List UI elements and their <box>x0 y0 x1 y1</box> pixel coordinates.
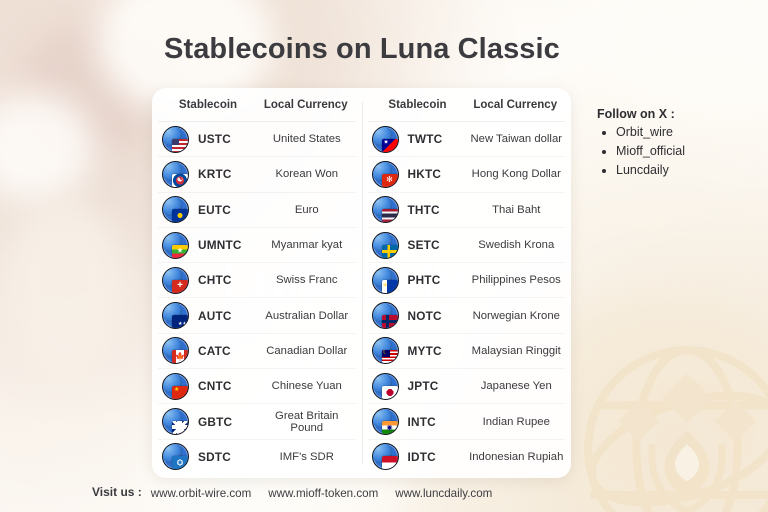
stablecoin-ticker: EUTC <box>198 203 231 217</box>
table-row[interactable]: ☀PHTCPhilippines Pesos <box>368 262 566 297</box>
table-row[interactable]: ◉INTCIndian Rupee <box>368 403 566 438</box>
footer-link[interactable]: www.orbit-wire.com <box>151 487 252 500</box>
cn-coin-icon: ★ <box>162 373 189 400</box>
footer-link[interactable]: www.mioff-token.com <box>268 487 378 500</box>
flag-icon: 🍁 <box>172 350 188 363</box>
stablecoin-ticker: AUTC <box>198 309 232 323</box>
cell-local-currency: New Taiwan dollar <box>468 133 566 145</box>
cell-stablecoin: THTC <box>368 196 468 223</box>
table-row[interactable]: ✻HKTCHong Kong Dollar <box>368 156 566 191</box>
cell-stablecoin: IDTC <box>368 443 468 470</box>
stablecoin-ticker: TWTC <box>408 132 443 146</box>
flag-icon: ✻ <box>382 174 398 187</box>
table-row[interactable]: IDTCIndonesian Rupiah <box>368 439 566 474</box>
ph-coin-icon: ☀ <box>372 267 399 294</box>
stablecoin-ticker: KRTC <box>198 167 232 181</box>
stablecoin-ticker: SETC <box>408 238 440 252</box>
cell-local-currency: Hong Kong Dollar <box>468 168 566 180</box>
stablecoin-ticker: GBTC <box>198 415 232 429</box>
stablecoin-ticker: HKTC <box>408 167 442 181</box>
globe-ornament-icon <box>572 334 768 512</box>
cell-stablecoin: +CHTC <box>158 267 258 294</box>
se-coin-icon <box>372 232 399 259</box>
cell-local-currency: Myanmar kyat <box>258 239 356 251</box>
table-row[interactable]: ✷TWTCNew Taiwan dollar <box>368 121 566 156</box>
column-divider <box>362 102 363 464</box>
flag-icon: ◌ <box>172 209 188 222</box>
cell-stablecoin: ✻HKTC <box>368 161 468 188</box>
table-header-row-right: Stablecoin Local Currency <box>368 88 566 121</box>
table-body-right: ✷TWTCNew Taiwan dollar✻HKTCHong Kong Dol… <box>368 121 566 474</box>
table-row[interactable]: ☯KRTCKorean Won <box>158 156 356 191</box>
cell-local-currency: Euro <box>258 204 356 216</box>
stablecoin-ticker: CNTC <box>198 379 232 393</box>
column-header-stablecoin: Stablecoin <box>368 99 466 111</box>
table-header-row-left: Stablecoin Local Currency <box>158 88 356 121</box>
table-right-half: Stablecoin Local Currency ✷TWTCNew Taiwa… <box>362 88 572 478</box>
table-row[interactable]: JPTCJapanese Yen <box>368 368 566 403</box>
cell-stablecoin: ◉INTC <box>368 408 468 435</box>
page-title: Stablecoins on Luna Classic <box>164 33 560 66</box>
background-blob <box>5 200 125 380</box>
flag-icon: ★ <box>172 386 188 399</box>
cell-local-currency: Swedish Krona <box>468 239 566 251</box>
follow-handle-list: Orbit_wireMioff_officialLuncdaily <box>597 124 685 179</box>
cell-stablecoin: ☾MYTC <box>368 337 468 364</box>
table-row[interactable]: ★UMNTCMyanmar kyat <box>158 227 356 262</box>
footer-link-list: www.orbit-wire.comwww.mioff-token.comwww… <box>151 487 493 500</box>
kr-coin-icon: ☯ <box>162 161 189 188</box>
cell-stablecoin: ★UMNTC <box>158 232 258 259</box>
cell-local-currency: Canadian Dollar <box>258 345 356 357</box>
column-header-local-currency: Local Currency <box>256 99 356 111</box>
cell-local-currency: Korean Won <box>258 168 356 180</box>
cell-local-currency: Thai Baht <box>468 204 566 216</box>
table-row[interactable]: ☾MYTCMalaysian Ringgit <box>368 333 566 368</box>
cell-local-currency: Indian Rupee <box>468 416 566 428</box>
flag-icon <box>172 421 188 434</box>
no-coin-icon <box>372 302 399 329</box>
table-row[interactable]: ★CNTCChinese Yuan <box>158 368 356 403</box>
stablecoin-ticker: CHTC <box>198 273 232 287</box>
cell-stablecoin: ★CNTC <box>158 373 258 400</box>
cell-local-currency: Swiss Franc <box>258 274 356 286</box>
footer-label: Visit us : <box>92 485 142 500</box>
cell-local-currency: Chinese Yuan <box>258 380 356 392</box>
hk-coin-icon: ✻ <box>372 161 399 188</box>
in-coin-icon: ◉ <box>372 408 399 435</box>
flag-icon: ☯ <box>172 174 188 187</box>
stablecoin-ticker: PHTC <box>408 273 441 287</box>
flag-icon <box>172 139 188 152</box>
table-row[interactable]: 🍁CATCCanadian Dollar <box>158 333 356 368</box>
us-coin-icon <box>162 126 189 153</box>
flag-icon <box>382 386 398 399</box>
stablecoin-ticker: INTC <box>408 415 436 429</box>
id-coin-icon <box>372 443 399 470</box>
ch-coin-icon: + <box>162 267 189 294</box>
table-row[interactable]: SETCSwedish Krona <box>368 227 566 262</box>
flag-icon <box>382 245 398 258</box>
stablecoin-ticker: SDTC <box>198 450 231 464</box>
flag-icon <box>382 209 398 222</box>
follow-handle[interactable]: Luncdaily <box>616 162 685 179</box>
stablecoin-ticker: USTC <box>198 132 231 146</box>
stablecoin-ticker: UMNTC <box>198 238 242 252</box>
table-row[interactable]: NOTCNorwegian Krone <box>368 297 566 332</box>
flag-icon: ◉ <box>382 421 398 434</box>
tw-coin-icon: ✷ <box>372 126 399 153</box>
cell-local-currency: Great Britain Pound <box>258 410 356 434</box>
flag-icon: ☀ <box>382 280 398 293</box>
mm-coin-icon: ★ <box>162 232 189 259</box>
stablecoins-table-card: Stablecoin Local Currency USTCUnited Sta… <box>152 88 571 478</box>
flag-icon <box>382 315 398 328</box>
table-row[interactable]: ★★AUTCAustralian Dollar <box>158 297 356 332</box>
cell-stablecoin: ✷TWTC <box>368 126 468 153</box>
flag-icon: ★ <box>172 245 188 258</box>
flag-icon: ✷ <box>382 139 398 152</box>
ca-coin-icon: 🍁 <box>162 337 189 364</box>
cell-local-currency: Philippines Pesos <box>468 274 566 286</box>
footer-link[interactable]: www.luncdaily.com <box>395 487 492 500</box>
table-left-half: Stablecoin Local Currency USTCUnited Sta… <box>152 88 362 478</box>
column-header-stablecoin: Stablecoin <box>158 99 256 111</box>
follow-title: Follow on X : <box>597 107 685 121</box>
cell-local-currency: Malaysian Ringgit <box>468 345 566 357</box>
stablecoin-ticker: MYTC <box>408 344 442 358</box>
eu-coin-icon: ◌ <box>162 196 189 223</box>
cell-stablecoin: ★★AUTC <box>158 302 258 329</box>
cell-local-currency: Australian Dollar <box>258 310 356 322</box>
gb-coin-icon <box>162 408 189 435</box>
cell-local-currency: Indonesian Rupiah <box>468 451 566 463</box>
follow-panel: Follow on X : Orbit_wireMioff_officialLu… <box>597 107 685 181</box>
cell-stablecoin: ◉SDTC <box>158 443 258 470</box>
cell-stablecoin: SETC <box>368 232 468 259</box>
cell-stablecoin: GBTC <box>158 408 258 435</box>
stablecoin-ticker: NOTC <box>408 309 442 323</box>
follow-handle[interactable]: Orbit_wire <box>616 124 685 141</box>
cell-stablecoin: 🍁CATC <box>158 337 258 364</box>
flag-icon: + <box>172 280 188 293</box>
cell-stablecoin: USTC <box>158 126 258 153</box>
au-coin-icon: ★★ <box>162 302 189 329</box>
cell-stablecoin: JPTC <box>368 373 468 400</box>
cell-stablecoin: NOTC <box>368 302 468 329</box>
footer: Visit us : www.orbit-wire.comwww.mioff-t… <box>92 485 492 500</box>
my-coin-icon: ☾ <box>372 337 399 364</box>
imf-coin-icon: ◉ <box>162 443 189 470</box>
cell-local-currency: IMF's SDR <box>258 451 356 463</box>
stablecoin-ticker: JPTC <box>408 379 439 393</box>
follow-handle[interactable]: Mioff_official <box>616 143 685 160</box>
cell-stablecoin: ☯KRTC <box>158 161 258 188</box>
flag-icon: ☾ <box>382 350 398 363</box>
cell-local-currency: Norwegian Krone <box>468 310 566 322</box>
table-row[interactable]: +CHTCSwiss Franc <box>158 262 356 297</box>
table-row[interactable]: USTCUnited States <box>158 121 356 156</box>
stablecoin-ticker: THTC <box>408 203 440 217</box>
table-row[interactable]: ◌EUTCEuro <box>158 192 356 227</box>
stablecoin-ticker: CATC <box>198 344 231 358</box>
stablecoin-ticker: IDTC <box>408 450 436 464</box>
th-coin-icon <box>372 196 399 223</box>
flag-icon: ★★ <box>172 315 188 328</box>
jp-coin-icon <box>372 373 399 400</box>
cell-local-currency: United States <box>258 133 356 145</box>
table-row[interactable]: THTCThai Baht <box>368 192 566 227</box>
cell-stablecoin: ☀PHTC <box>368 267 468 294</box>
column-header-local-currency: Local Currency <box>466 99 566 111</box>
cell-local-currency: Japanese Yen <box>468 380 566 392</box>
cell-stablecoin: ◌EUTC <box>158 196 258 223</box>
flag-icon <box>382 456 398 469</box>
table-body-left: USTCUnited States☯KRTCKorean Won◌EUTCEur… <box>158 121 356 474</box>
table-row[interactable]: GBTCGreat Britain Pound <box>158 403 356 438</box>
flag-icon: ◉ <box>172 456 188 469</box>
table-row[interactable]: ◉SDTCIMF's SDR <box>158 439 356 474</box>
